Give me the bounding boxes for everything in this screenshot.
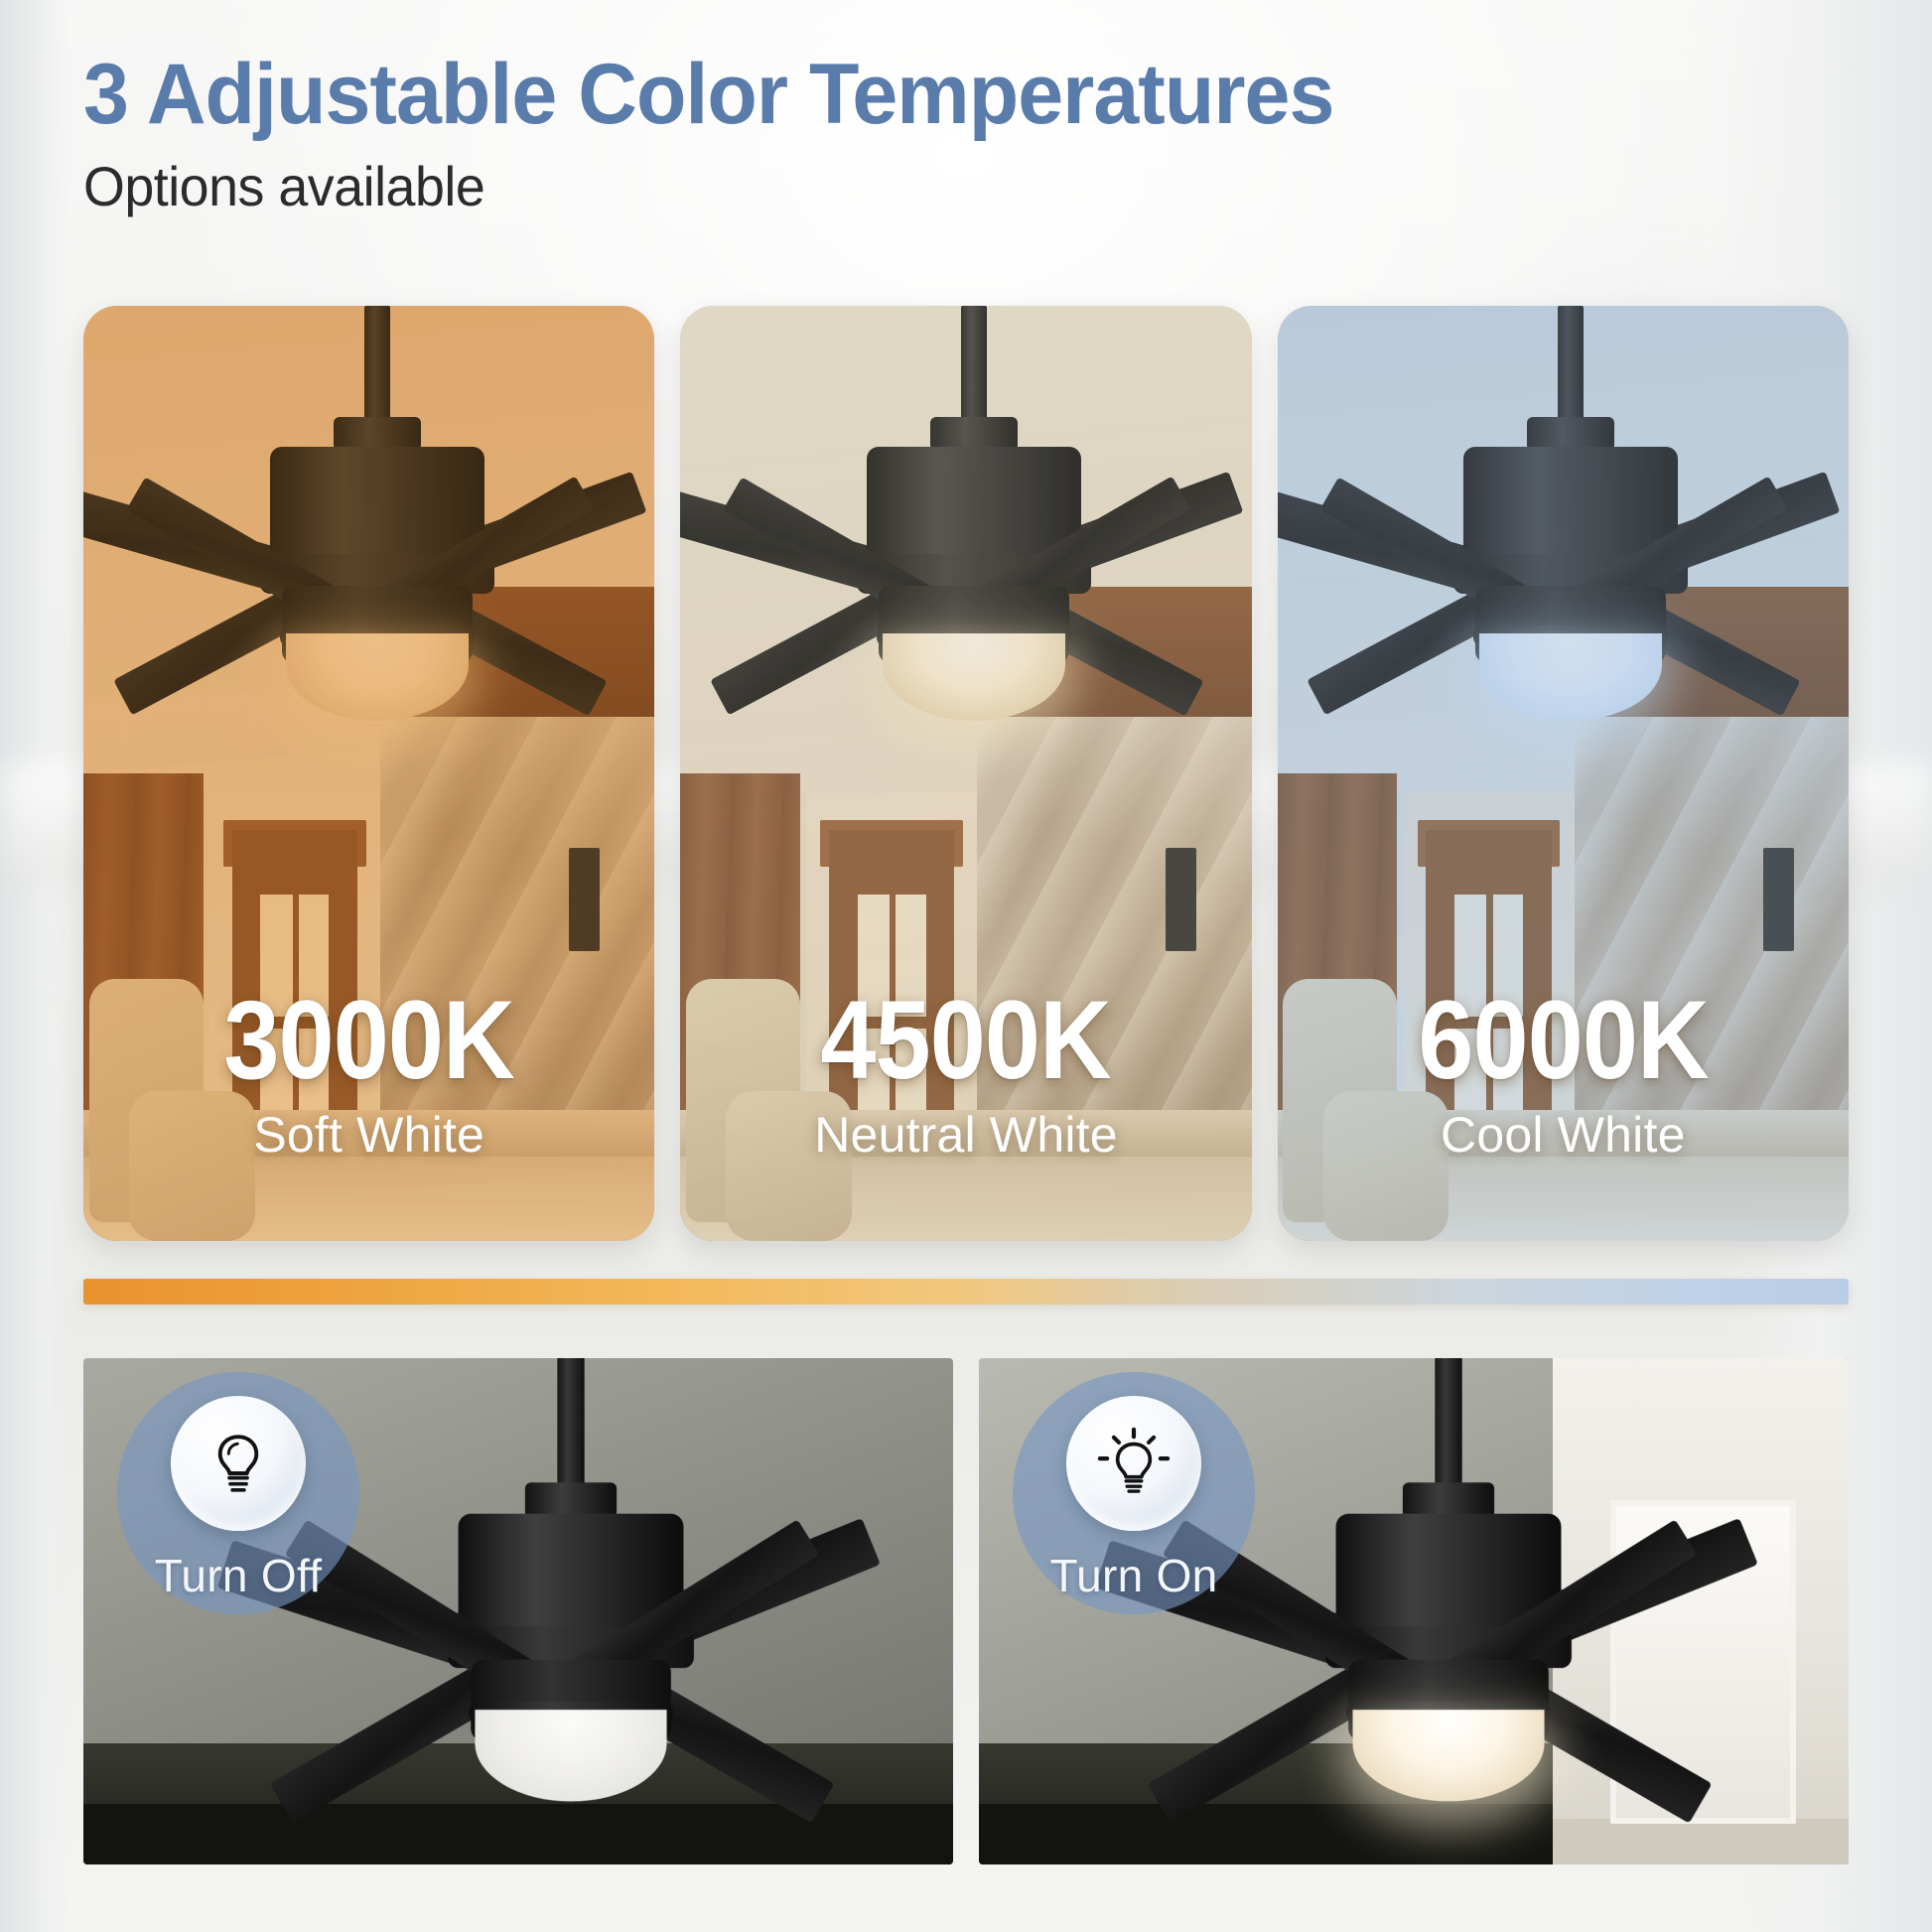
temperature-card-6000k[interactable]: 6000K Cool White [1278,306,1849,1241]
light-state-card-on[interactable]: Turn On [979,1358,1849,1864]
turn-on-badge[interactable]: Turn On [1013,1372,1255,1614]
turn-off-badge[interactable]: Turn Off [117,1372,359,1614]
lightbulb-on-icon [1095,1425,1173,1502]
fan-downrod [364,306,390,423]
badge-disc [171,1396,306,1531]
temperature-card-row: 3000K Soft White [83,306,1849,1241]
infographic-page: 3 Adjustable Color Temperatures Options … [0,0,1932,1932]
light-state-card-off[interactable]: Turn Off [83,1358,953,1864]
fan-rod-cap [334,417,421,451]
temperature-card-3000k[interactable]: 3000K Soft White [83,306,654,1241]
temperature-card-4500k[interactable]: 4500K Neutral White [680,306,1251,1241]
header-block: 3 Adjustable Color Temperatures Options … [83,52,1386,214]
light-state-row: Turn Off [83,1358,1849,1864]
badge-disc [1066,1396,1201,1531]
color-gradient-divider [83,1279,1849,1305]
lightbulb-off-icon [200,1425,277,1502]
page-title: 3 Adjustable Color Temperatures [83,52,1333,137]
turn-on-label: Turn On [1049,1549,1217,1602]
background-window-left [0,0,69,1932]
turn-off-label: Turn Off [155,1549,323,1602]
page-subtitle: Options available [83,159,1333,214]
